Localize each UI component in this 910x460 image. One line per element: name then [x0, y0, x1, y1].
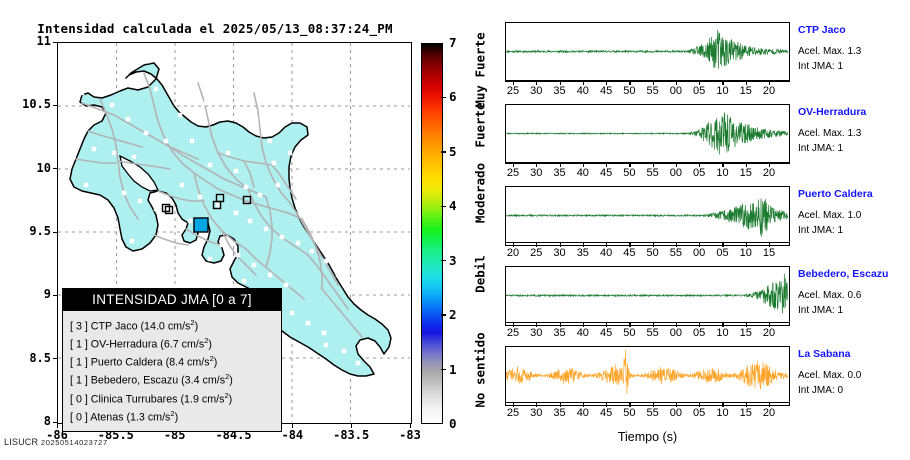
legend-accel: (6.7 cm/s	[160, 339, 204, 351]
colorbar-category-label: Fuerte	[473, 102, 488, 147]
legend-rows: [ 3 ] CTP Jaco (14.0 cm/s2)[ 1 ] OV-Herr…	[63, 311, 281, 431]
station-jma-intensity: Int JMA: 1	[798, 305, 843, 316]
station-max-acceleration: Acel. Max. 1.0	[798, 210, 861, 221]
station-name: Bebedero, Escazu	[798, 268, 888, 280]
seismograph-xlabel: Tiempo (s)	[505, 430, 790, 444]
colorbar-tick-label: 3	[449, 253, 457, 268]
station-max-acceleration: Acel. Max. 0.6	[798, 290, 861, 301]
legend-station: CTP Jaco	[91, 321, 141, 333]
page-title: Intensidad calculada el 2025/05/13_08:37…	[0, 21, 430, 36]
legend-intensity: [ 1 ]	[70, 339, 91, 351]
legend-accel-close: )	[195, 321, 199, 333]
station-max-acceleration: Acel. Max. 1.3	[798, 128, 861, 139]
intensity-colorbar	[421, 43, 443, 424]
waveform-path	[506, 30, 788, 69]
colorbar-tick-label: 0	[449, 416, 457, 431]
axis-tick-label: 20	[754, 327, 784, 339]
seismograph-trace[interactable]	[505, 22, 790, 82]
legend-accel: (8.4 cm/s	[166, 357, 210, 369]
station-name: Puerto Caldera	[798, 188, 873, 200]
axis-line	[505, 402, 790, 403]
colorbar-tick	[441, 97, 446, 98]
legend-intensity: [ 0 ]	[70, 411, 90, 423]
legend-accel-close: )	[229, 393, 233, 405]
colorbar-tick	[441, 151, 446, 152]
legend-intensity: [ 1 ]	[70, 357, 91, 369]
seismograph-trace[interactable]	[505, 104, 790, 164]
colorbar-category-label: Muy Fuerte	[473, 33, 488, 108]
legend-row: [ 1 ] Puerto Caldera (8.4 cm/s2)	[70, 352, 274, 370]
axis-tick-label: 20	[754, 85, 784, 97]
station-marker[interactable]	[194, 218, 208, 232]
colorbar-tick-label: 2	[449, 307, 457, 322]
station-jma-intensity: Int JMA: 0	[798, 385, 843, 396]
legend-row: [ 0 ] Atenas (1.3 cm/s2)	[70, 407, 274, 425]
map-ytick-label: 8.5	[5, 351, 51, 365]
map-ytick-label: 10.5	[5, 97, 51, 111]
colorbar-category-label: No sentido	[473, 332, 488, 407]
colorbar-tick-label: 4	[449, 198, 457, 213]
legend-row: [ 1 ] OV-Herradura (6.7 cm/s2)	[70, 334, 274, 352]
station-name: CTP Jaco	[798, 24, 846, 36]
intensity-legend: INTENSIDAD JMA [0 a 7] [ 3 ] CTP Jaco (1…	[62, 288, 282, 432]
waveform	[506, 347, 788, 404]
colorbar-tick-label: 5	[449, 144, 457, 159]
waveform	[506, 267, 788, 324]
station-jma-intensity: Int JMA: 1	[798, 143, 843, 154]
station-max-acceleration: Acel. Max. 1.3	[798, 46, 861, 57]
colorbar-tick-label: 7	[449, 35, 457, 50]
map-ytick-label: 10	[5, 161, 51, 175]
map-xtick-label: -83	[380, 428, 440, 442]
axis-line	[505, 322, 790, 323]
axis-line	[505, 162, 790, 163]
colorbar-category-label: Moderado	[473, 163, 488, 223]
waveform	[506, 23, 788, 80]
watermark-id: 20250514023727	[41, 438, 108, 447]
waveform-path	[506, 350, 788, 394]
seismograph-trace[interactable]	[505, 266, 790, 326]
colorbar-tick	[441, 260, 446, 261]
seismograph-time-axis: 253035404550550005101520	[505, 322, 790, 342]
seismograph-time-axis: 253035404550550005101520	[505, 162, 790, 182]
seismograph-time-axis: 202530354045505500051015	[505, 242, 790, 262]
seismograph-time-axis: 253035404550550005101520	[505, 402, 790, 422]
legend-station: Bebedero, Escazu	[91, 375, 181, 387]
map-ytick-label: 9	[5, 287, 51, 301]
legend-intensity: [ 0 ]	[70, 393, 91, 405]
legend-station: Puerto Caldera	[91, 357, 166, 369]
watermark-org: LISUCR	[4, 437, 38, 447]
colorbar-tick	[441, 314, 446, 315]
station-max-acceleration: Acel. Max. 0.0	[798, 370, 861, 381]
seismograph-trace[interactable]	[505, 346, 790, 406]
legend-accel: (3.4 cm/s	[181, 375, 225, 387]
map-xtick-label: -83.5	[321, 428, 381, 442]
map-ytick-label: 9.5	[5, 224, 51, 238]
waveform	[506, 187, 788, 244]
waveform	[506, 105, 788, 162]
legend-accel: (1.3 cm/s	[126, 411, 170, 423]
legend-accel: (1.9 cm/s	[181, 393, 225, 405]
map-ytick-label: 11	[5, 34, 51, 48]
waveform-path	[506, 274, 788, 314]
legend-station: Clinica Turrubares	[91, 393, 181, 405]
waveform-path	[506, 112, 788, 154]
station-name: OV-Herradura	[798, 106, 866, 118]
legend-accel-close: )	[175, 411, 179, 423]
station-jma-intensity: Int JMA: 1	[798, 225, 843, 236]
axis-tick-label: 15	[754, 247, 784, 259]
legend-accel-close: )	[214, 357, 218, 369]
axis-tick-label: 20	[754, 167, 784, 179]
legend-row: [ 1 ] Bebedero, Escazu (3.4 cm/s2)	[70, 370, 274, 388]
map-ytick-label: 8	[5, 414, 51, 428]
legend-accel-close: )	[229, 375, 233, 387]
seismic-intensity-report: Intensidad calculada el 2025/05/13_08:37…	[0, 0, 910, 460]
legend-accel: (14.0 cm/s	[141, 321, 191, 333]
axis-line	[505, 242, 790, 243]
legend-row: [ 3 ] CTP Jaco (14.0 cm/s2)	[70, 316, 274, 334]
colorbar-category-label: Debil	[473, 255, 488, 293]
colorbar-tick-label: 1	[449, 362, 457, 377]
legend-station: Atenas	[90, 411, 126, 423]
station-name: La Sabana	[798, 348, 851, 360]
legend-intensity: [ 1 ]	[70, 375, 91, 387]
axis-tick-label: 20	[754, 407, 784, 419]
legend-accel-close: )	[208, 339, 212, 351]
watermark: LISUCR 20250514023727	[4, 437, 108, 447]
station-jma-intensity: Int JMA: 1	[798, 61, 843, 72]
colorbar-tick	[441, 206, 446, 207]
legend-title: INTENSIDAD JMA [0 a 7]	[63, 289, 281, 311]
legend-station: OV-Herradura	[91, 339, 161, 351]
legend-intensity: [ 3 ]	[70, 321, 91, 333]
seismograph-trace[interactable]	[505, 186, 790, 246]
seismograph-time-axis: 253035404550550005101520	[505, 80, 790, 100]
axis-line	[505, 80, 790, 81]
waveform-path	[506, 199, 788, 237]
colorbar-tick-label: 6	[449, 89, 457, 104]
colorbar-tick	[441, 369, 446, 370]
legend-row: [ 0 ] Clinica Turrubares (1.9 cm/s2)	[70, 389, 274, 407]
